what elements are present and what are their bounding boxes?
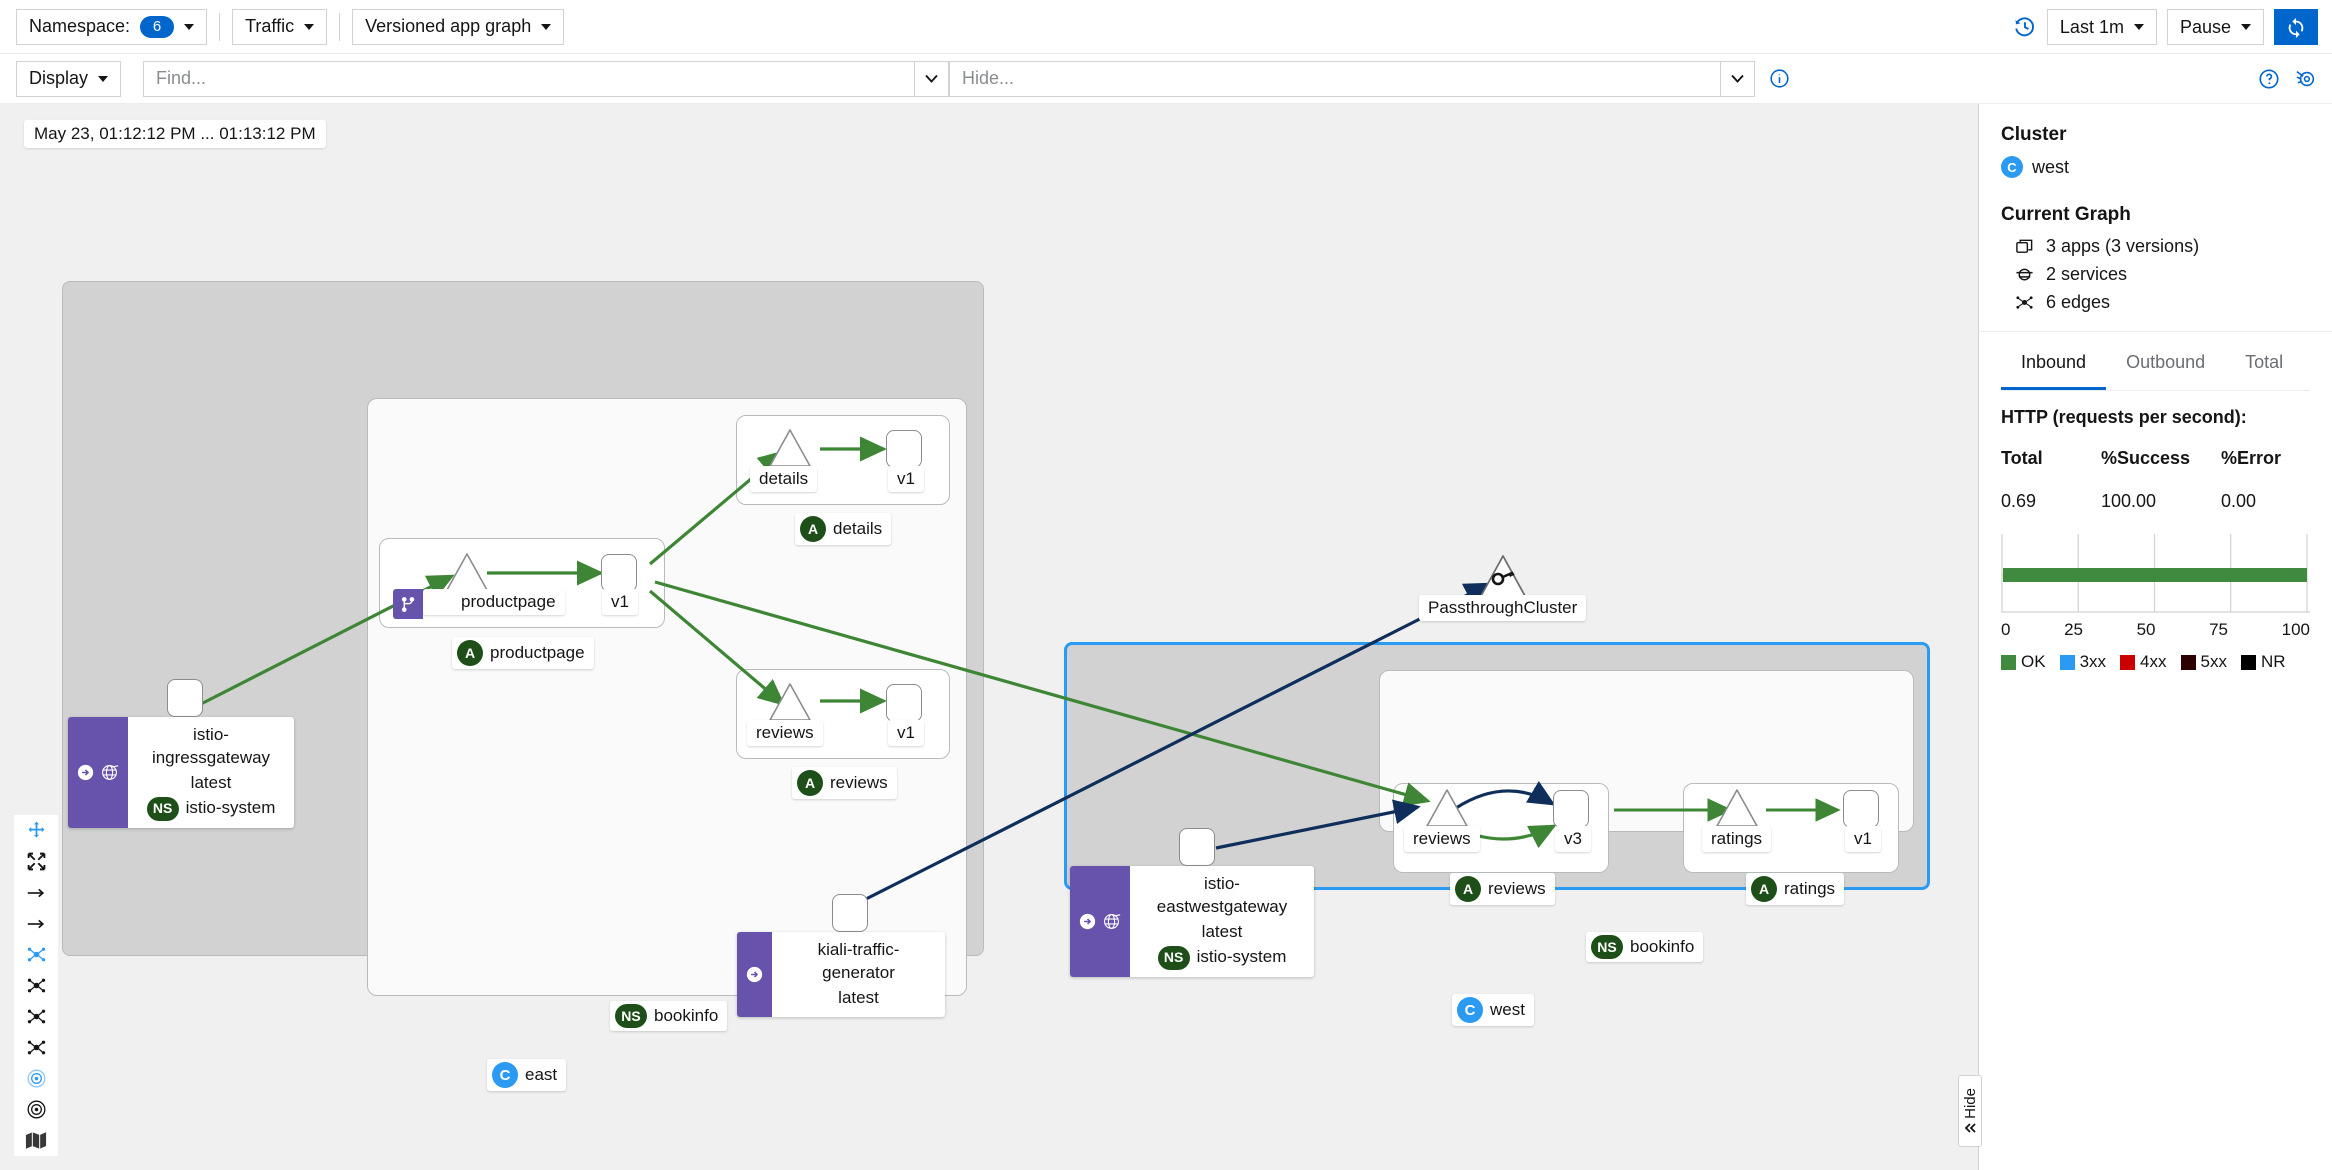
app-badge-text: reviews [1488,879,1546,899]
node-istio-eastwestgateway[interactable]: istio-eastwestgateway latest NS istio-sy… [1070,866,1314,977]
sparkline-chart [2001,534,2310,616]
node-ratings-west-v1[interactable] [1843,790,1879,828]
fit-to-screen-icon[interactable] [14,846,58,877]
refresh-button[interactable] [2274,9,2318,45]
sync-icon [2285,16,2307,38]
hide-input[interactable] [950,62,1720,96]
graph-find-toolbar: Display [0,54,2332,104]
drag-mode-icon[interactable] [14,815,58,846]
chevron-down-icon [2134,24,2144,30]
gateway-name: istio-ingressgateway [142,724,280,770]
workload-node-text: kiali-traffic-generator latest [772,932,945,1017]
app-badge-details: A details [795,513,891,545]
legend-item-nr: NR [2241,652,2286,672]
axis-tick-50: 50 [2137,620,2156,640]
axis-tick-25: 25 [2064,620,2083,640]
cluster-badge-letter: C [492,1062,518,1088]
cluster-box-icon[interactable] [14,1094,58,1125]
node-label-reviews-east-v1: v1 [888,720,924,746]
workload-icon [77,764,94,781]
find-typeahead[interactable] [143,61,949,97]
refresh-interval-selector[interactable]: Pause [2167,9,2264,45]
node-reviews-east-service[interactable] [768,682,812,722]
cluster-badge-west: C west [1452,994,1534,1026]
hide-graph-icon[interactable] [2294,68,2318,90]
sparkline-gridlines [2001,534,2310,616]
namespace-badge-text: bookinfo [654,1006,718,1026]
time-range-label: Last 1m [2060,17,2124,38]
node-label-productpage: productpage [423,589,565,615]
stat-edges: 6 edges [2001,292,2310,313]
node-kiali-traffic-generator[interactable]: kiali-traffic-generator latest [737,932,945,1017]
metrics-header-row: Total %Success %Error [2001,448,2310,469]
hide-dropdown-toggle[interactable] [1720,62,1754,96]
cluster-badge-text: east [525,1065,557,1085]
chevron-down-icon [2241,24,2251,30]
app-badge-ratings-west: A ratings [1746,873,1844,905]
layout-cola-icon[interactable] [14,1001,58,1032]
stat-services-text: 2 services [2046,264,2127,285]
graph-type-selector[interactable]: Versioned app graph [352,9,564,45]
node-label-details: details [750,466,817,492]
cluster-badge-letter: C [2001,156,2023,178]
current-graph-heading: Current Graph [2001,204,2310,226]
tab-inbound[interactable]: Inbound [2001,338,2106,390]
app-badge-productpage: A productpage [452,637,594,669]
namespace-badge: NS [1158,946,1190,970]
metric-value-error: 0.00 [2221,491,2256,512]
legend-swatch-ok [2001,655,2016,670]
legend-swatch-4xx [2120,655,2135,670]
find-dropdown-toggle[interactable] [914,62,948,96]
node-label-reviews-east: reviews [747,720,823,746]
graph-type-label: Versioned app graph [365,16,531,37]
namespace-badge-letter: NS [615,1004,647,1028]
workload-version: latest [838,987,879,1010]
traffic-label: Traffic [245,16,294,37]
services-icon [2015,265,2034,284]
legend-item-3xx: 3xx [2060,652,2106,672]
side-panel-divider [1979,331,2332,332]
legend-swatch-5xx [2181,655,2196,670]
app-badge-letter: A [800,516,826,542]
layout-grid-icon[interactable] [14,970,58,1001]
graph-help-icons [2258,68,2318,90]
traffic-direction-tabs: Inbound Outbound Total [2001,338,2310,390]
cluster-badge-east: C east [487,1059,566,1091]
gateway-namespace-row: NS istio-system [1158,946,1287,970]
stat-apps-text: 3 apps (3 versions) [2046,236,2199,257]
gateway-namespace: istio-system [186,797,276,820]
legend-label-5xx: 5xx [2201,652,2227,672]
namespace-badge-text: bookinfo [1630,937,1694,957]
axis-tick-0: 0 [2001,620,2010,640]
node-istio-ingressgateway[interactable]: istio-ingressgateway latest NS istio-sys… [68,717,294,828]
gateway-name: istio-eastwestgateway [1144,873,1300,919]
chevron-down-icon [304,24,314,30]
metric-value-success: 100.00 [2101,491,2221,512]
namespace-label: Namespace: [29,16,130,37]
node-label-productpage-v1: v1 [602,589,638,615]
chevron-down-icon [98,76,108,82]
layout-arrow-2-icon[interactable] [14,908,58,939]
cluster-badge-letter: C [1457,997,1483,1023]
metrics-value-row: 0.69 100.00 0.00 [2001,491,2310,512]
namespace-badge-bookinfo-east: NS bookinfo [610,1001,727,1031]
node-label-reviews-west: reviews [1404,826,1480,852]
layout-dagre-icon[interactable] [14,939,58,970]
display-label: Display [29,68,88,89]
node-label-ratings-west: ratings [1702,826,1771,852]
namespace-badge-bookinfo-west: NS bookinfo [1586,932,1703,962]
gateway-icon [100,763,119,782]
metric-value-total: 0.69 [2001,491,2101,512]
stat-services: 2 services [2001,264,2310,285]
stat-apps: 3 apps (3 versions) [2001,236,2310,257]
gateway-icon [1102,912,1121,931]
app-badge-reviews-west: A reviews [1450,873,1555,905]
gateway-node-icons [68,717,128,828]
find-input[interactable] [144,62,914,96]
node-label-passthrough-cluster: PassthroughCluster [1419,595,1586,621]
refresh-interval-label: Pause [2180,17,2231,38]
app-badge-text: ratings [1784,879,1835,899]
question-circle-icon[interactable] [2258,68,2280,90]
sparkline-bar-ok [2003,568,2307,582]
info-circle-icon[interactable] [1769,68,1790,89]
node-reviews-west-service[interactable] [1425,788,1469,828]
metric-header-total: Total [2001,448,2101,469]
node-istio-eastwestgateway-box[interactable] [1179,828,1215,866]
axis-tick-100: 100 [2282,620,2310,640]
namespace-count-badge: 6 [140,16,174,38]
node-reviews-east-v1[interactable] [886,684,922,722]
legend-label-3xx: 3xx [2080,652,2106,672]
virtual-service-icon [393,589,423,619]
tab-outbound[interactable]: Outbound [2106,338,2225,390]
toolbar-divider-1 [219,13,220,41]
node-ratings-west-service[interactable] [1715,788,1759,828]
namespace-badge: NS [147,797,179,821]
hide-side-panel-tab[interactable]: Hide [1958,1075,1982,1147]
hide-tab-label: Hide [1962,1088,1979,1119]
gateway-node-text: istio-eastwestgateway latest NS istio-sy… [1130,866,1314,977]
toolbar-divider-2 [339,13,340,41]
node-passthrough-cluster[interactable] [1479,554,1527,598]
display-menu-button[interactable]: Display [16,61,121,97]
app-badge-letter: A [1455,876,1481,902]
workload-icon [1079,913,1096,930]
node-details-service[interactable] [768,428,812,468]
graph-side-panel: Cluster C west Current Graph 3 apps (3 v… [1978,104,2332,1170]
time-range-selector[interactable]: Last 1m [2047,9,2157,45]
stat-edges-text: 6 edges [2046,292,2110,313]
namespace-badge-letter: NS [1591,935,1623,959]
app-badge-letter: A [1751,876,1777,902]
chevron-down-icon [541,24,551,30]
namespace-box-icon[interactable] [14,1063,58,1094]
app-badge-text: reviews [830,773,888,793]
legend-item-ok: OK [2001,652,2046,672]
sparkline-axis-labels: 0 25 50 75 100 [2001,620,2310,640]
legend-swatch-3xx [2060,655,2075,670]
app-badge-reviews-east: A reviews [792,767,897,799]
gateway-namespace: istio-system [1197,946,1287,969]
toolbar-right-group: Last 1m Pause [2013,9,2318,45]
cluster-name: west [2032,157,2069,178]
graph-timestamp: May 23, 01:12:12 PM ... 01:13:12 PM [24,120,326,148]
apps-icon [2015,237,2034,256]
edges-icon [2015,293,2034,312]
node-productpage-v1[interactable] [601,554,637,592]
traffic-selector[interactable]: Traffic [232,9,327,45]
namespace-selector[interactable]: Namespace: 6 [16,9,207,45]
gateway-node-text: istio-ingressgateway latest NS istio-sys… [128,717,294,828]
cluster-badge-text: west [1490,1000,1525,1020]
metric-header-error: %Error [2221,448,2281,469]
tab-total[interactable]: Total [2225,338,2303,390]
chart-legend: OK 3xx 4xx 5xx NR [2001,652,2310,672]
node-label-reviews-west-v3: v3 [1555,826,1591,852]
chevron-double-right-icon [1963,1122,1977,1134]
workload-name: kiali-traffic-generator [786,939,931,985]
app-badge-letter: A [797,770,823,796]
legend-icon[interactable] [14,1125,58,1156]
legend-item-4xx: 4xx [2120,652,2166,672]
node-reviews-west-v3[interactable] [1553,790,1589,828]
legend-label-ok: OK [2021,652,2046,672]
gateway-version: latest [1202,921,1243,944]
gateway-namespace-row: NS istio-system [147,797,276,821]
graph-canvas[interactable]: May 23, 01:12:12 PM ... 01:13:12 PM [0,104,1978,1170]
metrics-title: HTTP (requests per second): [2001,407,2310,428]
app-badge-text: details [833,519,882,539]
hide-typeahead[interactable] [949,61,1755,97]
legend-item-5xx: 5xx [2181,652,2227,672]
main-toolbar: Namespace: 6 Traffic Versioned app graph [0,0,2332,54]
metric-header-success: %Success [2101,448,2221,469]
gateway-version: latest [191,772,232,795]
node-label-ratings-west-v1: v1 [1845,826,1881,852]
tabs-underline [2001,390,2310,391]
app-badge-letter: A [457,640,483,666]
node-label-details-v1: v1 [888,466,924,492]
workload-node-icons [737,932,772,1017]
legend-label-4xx: 4xx [2140,652,2166,672]
axis-tick-75: 75 [2209,620,2228,640]
legend-swatch-nr [2241,655,2256,670]
workload-icon [746,966,763,983]
app-badge-text: productpage [490,643,585,663]
node-productpage-service[interactable] [445,552,489,592]
gateway-node-icons [1070,866,1130,977]
history-icon[interactable] [2013,15,2037,39]
layout-concentric-icon[interactable] [14,1032,58,1063]
node-details-v1[interactable] [886,430,922,468]
layout-arrow-1-icon[interactable] [14,877,58,908]
graph-tools-toolbar [14,815,58,1156]
node-kiali-traffic-generator-box[interactable] [832,894,868,932]
cluster-heading: Cluster [2001,124,2310,146]
chevron-down-icon [184,24,194,30]
cluster-name-row: C west [2001,156,2310,178]
node-istio-ingressgateway-box[interactable] [167,679,203,717]
legend-label-nr: NR [2261,652,2286,672]
